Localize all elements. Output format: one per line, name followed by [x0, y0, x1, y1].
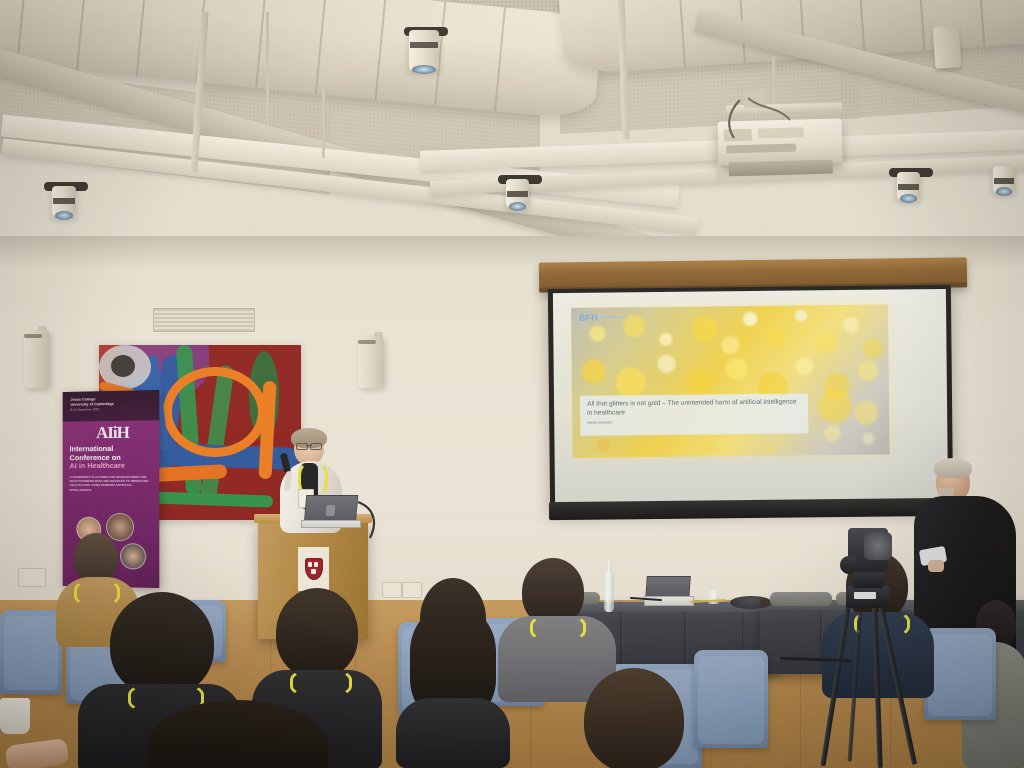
macbook-base [301, 520, 361, 528]
audience-lanyard [530, 614, 586, 642]
standing-man-hand [928, 560, 944, 572]
ceiling-downlight [52, 186, 76, 216]
chair [694, 650, 768, 748]
coffee-mug [0, 698, 30, 734]
banner-date: 8-10 September 2025 [71, 407, 114, 412]
projector-cable [718, 96, 838, 144]
camera-label [854, 592, 876, 599]
camera-pan-knob [840, 556, 858, 574]
small-object [760, 598, 770, 607]
banner-title: International Conference on AI in Health… [70, 445, 156, 472]
projector-stem [717, 160, 721, 182]
ceiling-downlight [506, 179, 529, 207]
slide-logo-bar [593, 316, 627, 317]
slide-text-card: All that glitters is not gold – The unin… [580, 393, 808, 435]
grey-bag [770, 592, 832, 606]
banner-logo: AIiH [96, 423, 129, 443]
ceiling-downlight [993, 166, 1015, 192]
projection-screen: BFH All that glitters is not gold – The … [553, 289, 948, 506]
audience-head [74, 533, 118, 583]
audience-lanyard [290, 668, 352, 698]
mic-stand [356, 500, 386, 540]
chair [0, 610, 62, 694]
slide-author: Kerstin Denecke [587, 419, 801, 425]
wall-socket [382, 582, 402, 598]
audience-member-4 [402, 578, 502, 768]
camera-lens [864, 532, 892, 560]
ceiling-downlight [409, 30, 439, 70]
wall-speaker [358, 336, 384, 388]
ceiling [0, 0, 1024, 258]
audience-head [276, 588, 358, 678]
audience-head [584, 668, 684, 768]
slide-title: All that glitters is not gold – The unin… [587, 398, 801, 418]
chair [924, 628, 996, 720]
wall-air-vent [153, 308, 255, 332]
college-crest-podium [298, 547, 329, 591]
standing-man-hair [934, 458, 972, 478]
wall-speaker [24, 330, 50, 388]
glasses-icon [296, 443, 322, 448]
conference-room-photograph: Jesus College University of Cambridge 8-… [0, 0, 1024, 768]
hanger-rod [266, 12, 269, 122]
crest-shield [305, 558, 323, 580]
audience-torso [396, 698, 510, 768]
wall-socket [18, 568, 46, 587]
banner-title-line3: AI in Healthcare [70, 461, 125, 470]
banner-body-text: A PROMINENT PLATFORM FOR RESEARCHERS AND… [70, 475, 150, 492]
ceiling-speaker [933, 25, 962, 69]
audience-head [110, 592, 214, 696]
apple-logo-icon [325, 505, 335, 516]
hanger-rod [322, 88, 325, 158]
audience-member-8 [148, 700, 328, 768]
projected-slide: BFH All that glitters is not gold – The … [571, 305, 890, 458]
projection-screen-frame: BFH All that glitters is not gold – The … [548, 285, 953, 511]
audience-member-7 [568, 668, 698, 768]
ceiling-downlight [897, 172, 920, 199]
tripod-plate [852, 570, 884, 588]
audience-head [148, 700, 328, 768]
